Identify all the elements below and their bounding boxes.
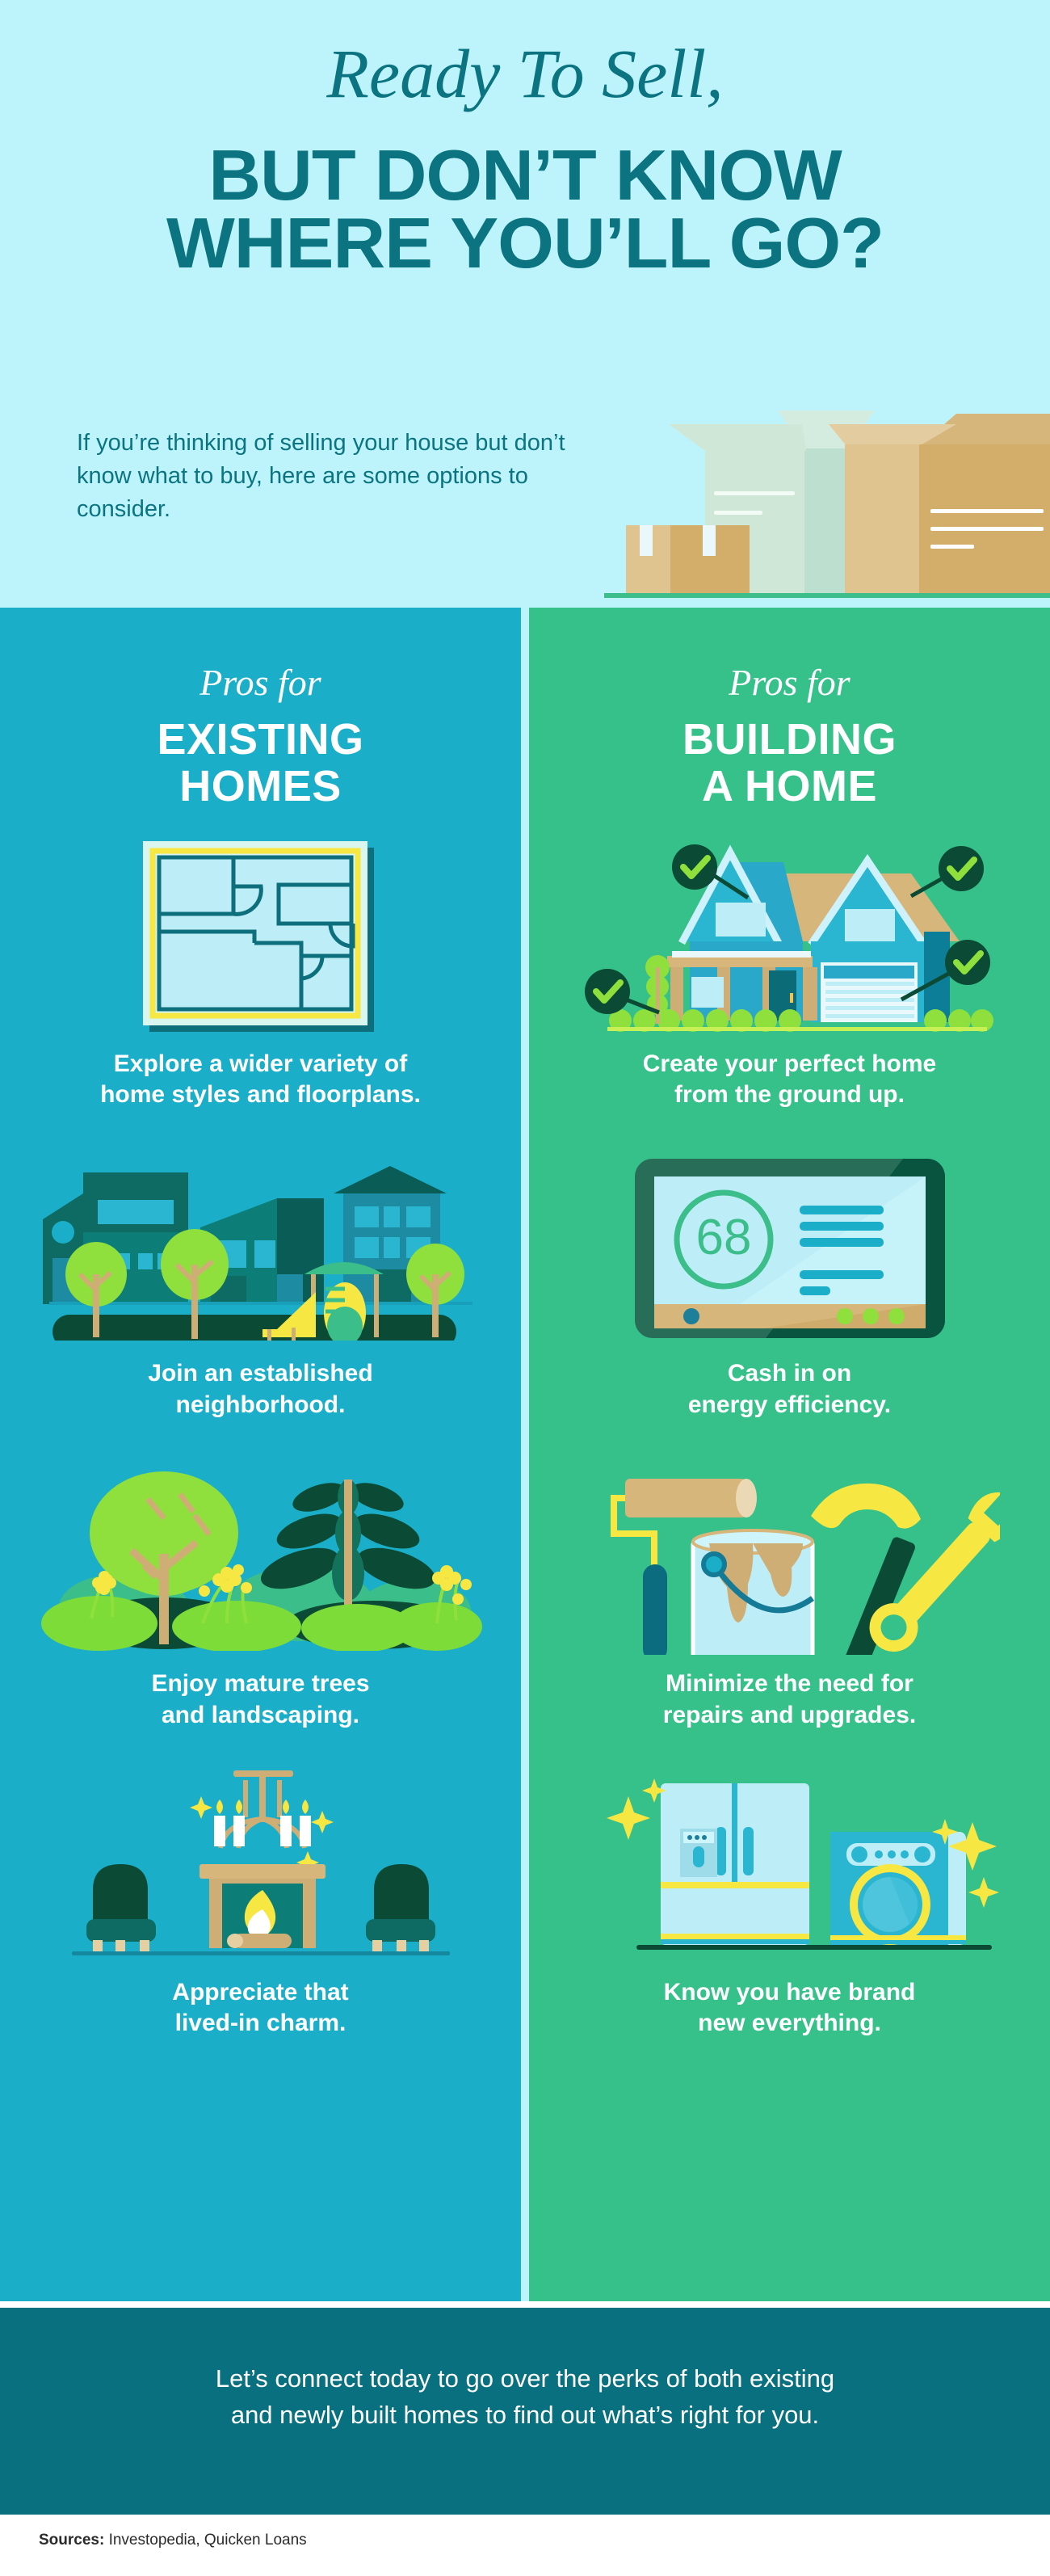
floorplan-illustration bbox=[0, 835, 521, 1041]
list-item: Enjoy mature trees and landscaping. bbox=[0, 1454, 521, 1731]
caption-line-1: Join an established bbox=[0, 1358, 521, 1389]
list-item-caption: Cash in on energy efficiency. bbox=[529, 1358, 1050, 1421]
list-item: Create your perfect home from the ground… bbox=[529, 835, 1050, 1111]
neighborhood-icon bbox=[35, 1155, 487, 1341]
infographic-page: Ready To Sell, BUT DON’T KNOW WHERE YOU’… bbox=[0, 0, 1050, 2576]
cta-line-2: and newly built homes to find out what’s… bbox=[89, 2397, 961, 2434]
tools-illustration bbox=[529, 1454, 1050, 1661]
column-title-right-line-2: A HOME bbox=[529, 763, 1050, 810]
column-title-right: BUILDING A HOME bbox=[529, 716, 1050, 810]
floorplan-icon bbox=[132, 836, 390, 1038]
list-item-caption: Enjoy mature trees and landscaping. bbox=[0, 1669, 521, 1731]
cta-text: Let’s connect today to go over the perks… bbox=[89, 2361, 961, 2434]
moving-boxes-icon bbox=[604, 388, 1050, 598]
list-item: Appreciate that lived-in charm. bbox=[0, 1763, 521, 2039]
list-item: Join an established neighborhood. bbox=[0, 1144, 521, 1421]
column-kicker-left: Pros for bbox=[0, 664, 521, 701]
list-item-caption: Join an established neighborhood. bbox=[0, 1358, 521, 1421]
cta-line-1: Let’s connect today to go over the perks… bbox=[89, 2361, 961, 2397]
caption-line-1: Enjoy mature trees bbox=[0, 1669, 521, 1699]
fireplace-illustration bbox=[0, 1763, 521, 1969]
list-item-caption: Minimize the need for repairs and upgrad… bbox=[529, 1669, 1050, 1731]
comparison-columns: Pros for EXISTING HOMES bbox=[0, 598, 1050, 2301]
caption-line-2: home styles and floorplans. bbox=[0, 1080, 521, 1110]
caption-line-1: Know you have brand bbox=[529, 1977, 1050, 2008]
list-item: Minimize the need for repairs and upgrad… bbox=[529, 1454, 1050, 1731]
column-title-left-line-2: HOMES bbox=[0, 763, 521, 810]
caption-line-1: Minimize the need for bbox=[529, 1669, 1050, 1699]
column-title-right-line-1: BUILDING bbox=[529, 716, 1050, 763]
list-item: Know you have brand new everything. bbox=[529, 1763, 1050, 2039]
caption-line-1: Explore a wider variety of bbox=[0, 1049, 521, 1080]
caption-line-1: Create your perfect home bbox=[529, 1049, 1050, 1080]
appliances-icon bbox=[580, 1769, 1000, 1963]
list-item-caption: Create your perfect home from the ground… bbox=[529, 1049, 1050, 1111]
page-title-line-2: WHERE YOU’LL GO? bbox=[0, 209, 1050, 277]
moving-boxes-illustration bbox=[604, 388, 1050, 598]
caption-line-2: from the ground up. bbox=[529, 1080, 1050, 1110]
thermostat-illustration: 68 bbox=[529, 1144, 1050, 1350]
caption-line-1: Appreciate that bbox=[0, 1977, 521, 2008]
caption-line-2: and landscaping. bbox=[0, 1700, 521, 1731]
caption-line-2: new everything. bbox=[529, 2008, 1050, 2039]
sources-line: Sources: Investopedia, Quicken Loans bbox=[39, 2532, 307, 2549]
list-item-caption: Know you have brand new everything. bbox=[529, 1977, 1050, 2039]
trees-landscaping-icon bbox=[35, 1465, 487, 1651]
tools-paint-icon bbox=[580, 1461, 1000, 1655]
new-house-illustration bbox=[529, 835, 1050, 1041]
column-existing-homes: Pros for EXISTING HOMES bbox=[0, 608, 521, 2301]
caption-line-2: lived-in charm. bbox=[0, 2008, 521, 2039]
appliances-illustration bbox=[529, 1763, 1050, 1969]
caption-line-1: Cash in on bbox=[529, 1358, 1050, 1389]
fireplace-icon bbox=[51, 1769, 471, 1963]
caption-line-2: energy efficiency. bbox=[529, 1390, 1050, 1421]
column-building-a-home: Pros for BUILDING A HOME bbox=[529, 608, 1050, 2301]
caption-line-2: neighborhood. bbox=[0, 1390, 521, 1421]
thermostat-value: 68 bbox=[695, 1210, 751, 1265]
intro-paragraph: If you’re thinking of selling your house… bbox=[77, 427, 577, 527]
cta-banner: Let’s connect today to go over the perks… bbox=[0, 2308, 1050, 2515]
sources-value: Investopedia, Quicken Loans bbox=[104, 2532, 306, 2549]
list-item: 68 Cash bbox=[529, 1144, 1050, 1421]
caption-line-2: repairs and upgrades. bbox=[529, 1700, 1050, 1731]
column-title-left-line-1: EXISTING bbox=[0, 716, 521, 763]
script-title: Ready To Sell, bbox=[0, 39, 1050, 108]
new-house-checkmarks-icon bbox=[572, 836, 1008, 1038]
thermostat-monitor-icon: 68 bbox=[628, 1151, 951, 1345]
column-title-left: EXISTING HOMES bbox=[0, 716, 521, 810]
page-title: BUT DON’T KNOW WHERE YOU’LL GO? bbox=[0, 141, 1050, 276]
list-item: Explore a wider variety of home styles a… bbox=[0, 835, 521, 1111]
column-kicker-right: Pros for bbox=[529, 664, 1050, 701]
header-section: Ready To Sell, BUT DON’T KNOW WHERE YOU’… bbox=[0, 0, 1050, 598]
list-item-caption: Appreciate that lived-in charm. bbox=[0, 1977, 521, 2039]
sources-label: Sources: bbox=[39, 2532, 104, 2549]
neighborhood-illustration bbox=[0, 1144, 521, 1350]
list-item-caption: Explore a wider variety of home styles a… bbox=[0, 1049, 521, 1111]
landscaping-illustration bbox=[0, 1454, 521, 1661]
